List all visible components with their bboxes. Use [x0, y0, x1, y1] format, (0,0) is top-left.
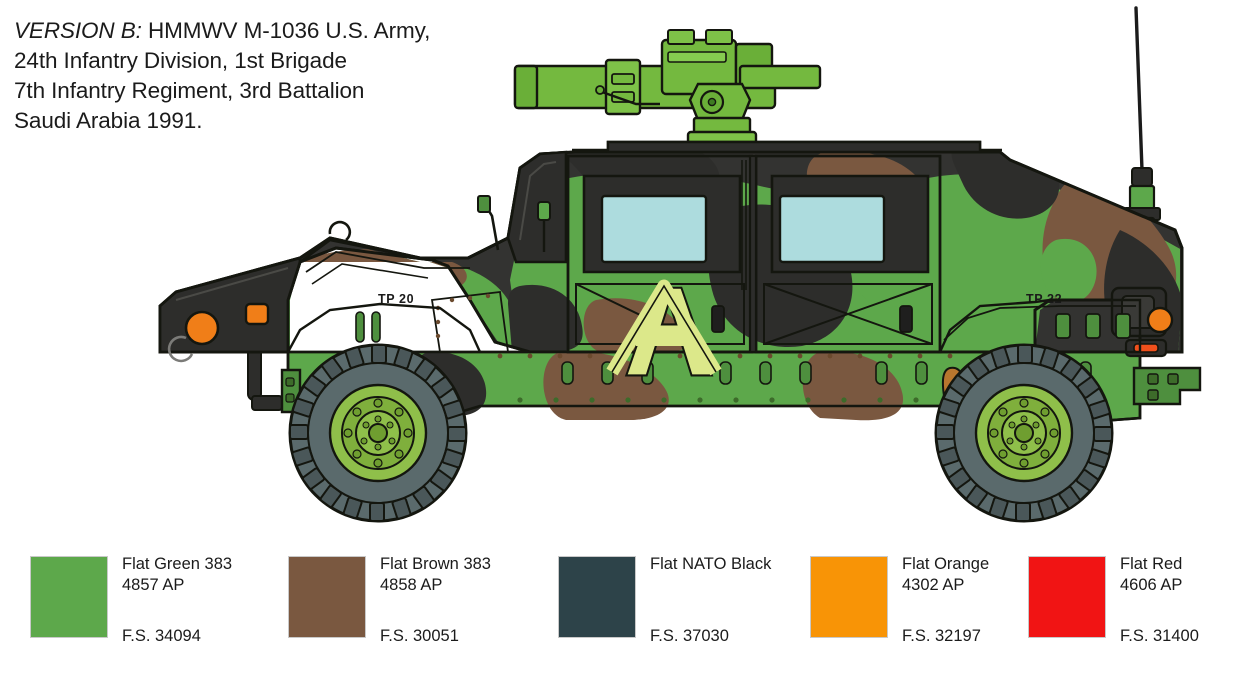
- paint-code: 4606 AP: [1120, 575, 1240, 596]
- front-fascia: [160, 258, 300, 361]
- paint-swatch: [30, 556, 108, 638]
- paint-fs: F.S. 34094: [122, 627, 201, 646]
- paint-name: Flat Brown 383: [380, 554, 580, 575]
- paint-swatch: [558, 556, 636, 638]
- paint-legend: Flat Green 383 4857 AP F.S. 34094 Flat B…: [0, 548, 1240, 668]
- paint-fs: F.S. 37030: [650, 627, 729, 646]
- paint-code: 4858 AP: [380, 575, 580, 596]
- paint-swatch: [1028, 556, 1106, 638]
- tow-launcher-assembly: [515, 30, 820, 154]
- front-wheel: [290, 345, 466, 521]
- rear-whip-antenna: [1124, 8, 1160, 234]
- front-marker-lamp: [246, 304, 268, 324]
- paint-swatch: [288, 556, 366, 638]
- vehicle-illustration: TP 20 TP 22: [0, 0, 1240, 540]
- paint-fs: F.S. 32197: [902, 627, 981, 646]
- headlamp-left: [186, 312, 218, 344]
- paint-fs: F.S. 31400: [1120, 627, 1199, 646]
- paint-fs: F.S. 30051: [380, 627, 459, 646]
- tail-lamp: [1148, 308, 1172, 332]
- paint-swatch: [810, 556, 888, 638]
- rear-bumper: [1134, 368, 1200, 404]
- front-window-glass: [602, 196, 706, 262]
- rear-window-glass: [780, 196, 884, 262]
- rear-wheel: [936, 345, 1112, 521]
- paint-name: Flat Red: [1120, 554, 1240, 575]
